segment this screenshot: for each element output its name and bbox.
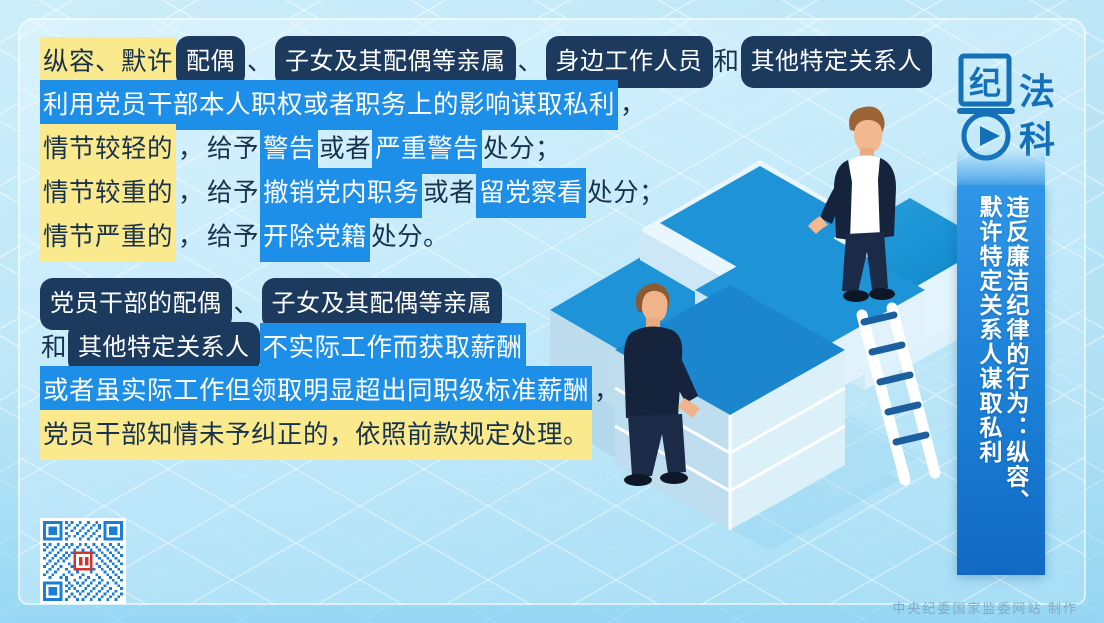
text-line: 党员干部的配偶、子女及其配偶等亲属 (40, 278, 920, 322)
banner-column-right: 违反廉洁纪律的行为：纵容、 (1002, 195, 1027, 563)
banner-column-left: 默许特定关系人谋取私利 (975, 195, 1000, 563)
main-text-block: 纵容、默许配偶、子女及其配偶等亲属、身边工作人员和其他特定关系人利用党员干部本人… (40, 36, 920, 460)
text-line: 情节较轻的，给予警告或者严重警告处分； (40, 124, 920, 168)
footer-credit: 中央纪委国家监委网站 制作 (892, 598, 1078, 617)
text-segment-hl-blue: 警告 (260, 124, 318, 174)
text-segment-pill: 其他特定关系人 (741, 36, 933, 88)
paragraph-2: 党员干部的配偶、子女及其配偶等亲属和其他特定关系人不实际工作而获取薪酬或者虽实际… (40, 278, 920, 454)
text-segment-plain: 给予 (206, 124, 260, 174)
text-line: 党员干部知情未予纠正的，依照前款规定处理。 (40, 410, 920, 454)
jifa-baike-logo: 纪 法 科 (955, 52, 1065, 164)
text-segment-plain: 给予 (206, 168, 260, 218)
play-icon (980, 126, 1000, 146)
text-segment-punc: ， (618, 83, 648, 127)
text-line: 和其他特定关系人不实际工作而获取薪酬 (40, 322, 920, 366)
text-segment-hl-blue: 利用党员干部本人职权或者职务上的影响谋取私利 (40, 80, 618, 130)
text-line: 情节严重的，给予开除党籍处分。 (40, 212, 920, 256)
text-segment-hl-blue: 撤销党内职务 (260, 168, 422, 218)
text-segment-plain: 或者 (422, 168, 476, 218)
text-segment-punc: ， (592, 369, 622, 413)
text-line: 情节较重的，给予撤销党内职务或者留党察看处分； (40, 168, 920, 212)
text-segment-hl-yellow: 情节较轻的 (40, 124, 176, 174)
text-segment-plain: 和 (713, 37, 741, 87)
text-segment-plain: 给予 (206, 212, 260, 262)
qr-code[interactable] (40, 518, 126, 604)
text-segment-punc: 、 (232, 282, 262, 326)
infographic-canvas: 纵容、默许配偶、子女及其配偶等亲属、身边工作人员和其他特定关系人利用党员干部本人… (0, 0, 1104, 623)
text-segment-hl-blue: 或者虽实际工作但领取明显超出同职级标准薪酬 (40, 366, 592, 416)
text-segment-hl-blue: 留党察看 (476, 168, 586, 218)
text-segment-plain: 处分； (586, 168, 666, 218)
logo-char-fa: 法 (1019, 72, 1055, 112)
paragraph-1: 纵容、默许配偶、子女及其配偶等亲属、身边工作人员和其他特定关系人利用党员干部本人… (40, 36, 920, 256)
text-segment-hl-yellow: 情节严重的 (40, 212, 176, 262)
text-segment-hl-blue: 开除党籍 (260, 212, 370, 262)
text-segment-hl-blue: 严重警告 (372, 124, 482, 174)
text-line: 或者虽实际工作但领取明显超出同职级标准薪酬， (40, 366, 920, 410)
logo-char-ji: 纪 (969, 65, 1001, 101)
text-segment-hl-yellow: 党员干部知情未予纠正的，依照前款规定处理。 (40, 410, 592, 460)
qr-center-seal (73, 551, 92, 570)
text-segment-punc: 、 (516, 40, 546, 84)
text-segment-hl-yellow: 情节较重的 (40, 168, 176, 218)
text-segment-punc: ， (176, 171, 206, 215)
vertical-title-banner: 违反廉洁纪律的行为：纵容、 默许特定关系人谋取私利 (957, 185, 1045, 575)
text-segment-punc: 、 (245, 40, 275, 84)
text-line: 纵容、默许配偶、子女及其配偶等亲属、身边工作人员和其他特定关系人 (40, 36, 920, 80)
text-segment-punc: ， (176, 215, 206, 259)
text-segment-punc: ， (176, 127, 206, 171)
text-segment-plain: 或者 (318, 124, 372, 174)
text-segment-plain: 处分。 (370, 212, 450, 262)
text-segment-plain: 处分； (482, 124, 562, 174)
